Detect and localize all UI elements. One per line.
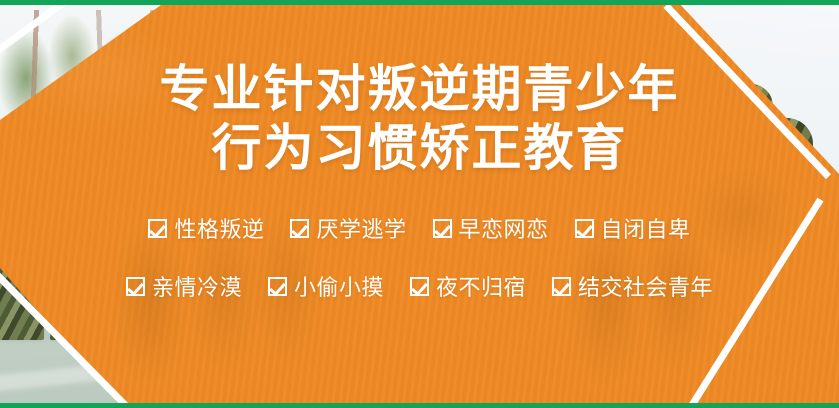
checkbox-checked-icon xyxy=(575,219,594,238)
feature-item: 厌学逃学 xyxy=(290,212,406,244)
checkbox-checked-icon xyxy=(126,277,145,296)
promo-banner: 专业针对叛逆期青少年 行为习惯矫正教育 性格叛逆 厌学逃学 早恋网恋 xyxy=(0,0,839,408)
feature-item: 性格叛逆 xyxy=(148,212,264,244)
feature-item-label: 亲情冷漠 xyxy=(152,270,242,302)
feature-item-label: 早恋网恋 xyxy=(459,212,549,244)
feature-item: 亲情冷漠 xyxy=(126,270,242,302)
feature-item: 结交社会青年 xyxy=(552,270,713,302)
feature-item: 夜不归宿 xyxy=(410,270,526,302)
headline-line-1: 专业针对叛逆期青少年 xyxy=(160,60,680,119)
headline-line-2: 行为习惯矫正教育 xyxy=(160,119,680,178)
feature-item-label: 小偷小摸 xyxy=(294,270,384,302)
checkbox-checked-icon xyxy=(148,219,167,238)
feature-item: 早恋网恋 xyxy=(433,212,549,244)
checkbox-checked-icon xyxy=(552,277,571,296)
feature-list: 性格叛逆 厌学逃学 早恋网恋 自闭自卑 亲情冷漠 xyxy=(126,212,713,302)
feature-item: 小偷小摸 xyxy=(268,270,384,302)
checkbox-checked-icon xyxy=(290,219,309,238)
banner-content: 专业针对叛逆期青少年 行为习惯矫正教育 性格叛逆 厌学逃学 早恋网恋 xyxy=(0,0,839,408)
feature-row: 亲情冷漠 小偷小摸 夜不归宿 结交社会青年 xyxy=(126,270,713,302)
feature-item-label: 夜不归宿 xyxy=(436,270,526,302)
checkbox-checked-icon xyxy=(268,277,287,296)
feature-row: 性格叛逆 厌学逃学 早恋网恋 自闭自卑 xyxy=(148,212,690,244)
top-green-rule xyxy=(0,0,839,5)
bottom-green-rule xyxy=(0,403,839,408)
feature-item-label: 厌学逃学 xyxy=(316,212,406,244)
feature-item-label: 结交社会青年 xyxy=(578,270,713,302)
feature-item-label: 性格叛逆 xyxy=(174,212,264,244)
checkbox-checked-icon xyxy=(433,219,452,238)
feature-item-label: 自闭自卑 xyxy=(601,212,691,244)
feature-item: 自闭自卑 xyxy=(575,212,691,244)
headline: 专业针对叛逆期青少年 行为习惯矫正教育 xyxy=(160,60,680,178)
checkbox-checked-icon xyxy=(410,277,429,296)
